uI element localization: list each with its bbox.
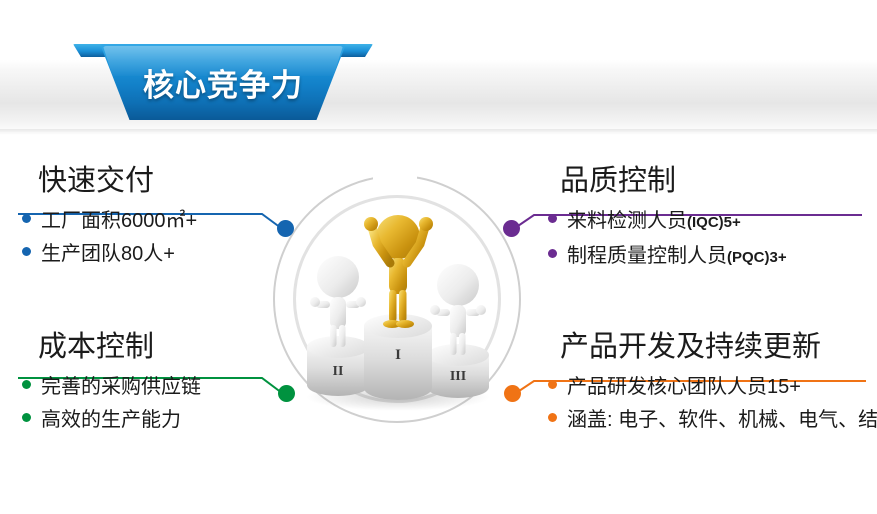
- list-item: 完善的采购供应链: [22, 375, 272, 399]
- bullet-dot-icon: [22, 214, 31, 223]
- quadrant-quality-heading: 品质控制: [560, 164, 864, 198]
- connector-dot-product: [504, 385, 521, 402]
- bullet-dot-icon: [548, 214, 557, 223]
- list-item-label: 高效的生产能力: [41, 408, 181, 432]
- quadrant-delivery-heading: 快速交付: [38, 164, 272, 198]
- list-item-label: 生产团队80人+: [41, 242, 175, 266]
- list-item-label: 来料检测人员(IQC)5+: [567, 209, 741, 235]
- list-item-label: 工厂面积6000㎡+: [41, 209, 197, 233]
- list-item: 高效的生产能力: [22, 408, 272, 432]
- quadrant-cost: 成本控制 完善的采购供应链 高效的生产能力: [22, 330, 272, 432]
- quadrant-product: 产品开发及持续更新 产品研发核心团队人员15+ 涵盖: 电子、软件、机械、电气、…: [524, 330, 869, 432]
- list-item: 产品研发核心团队人员15+: [548, 375, 869, 399]
- bullet-dot-icon: [22, 413, 31, 422]
- list-item: 来料检测人员(IQC)5+: [548, 209, 864, 235]
- list-item-label: 完善的采购供应链: [41, 375, 201, 399]
- connector-dot-cost: [278, 385, 295, 402]
- list-item-label: 产品研发核心团队人员15+: [567, 375, 801, 399]
- connector-dot-quality: [503, 220, 520, 237]
- quadrant-quality: 品质控制 来料检测人员(IQC)5+ 制程质量控制人员(PQC)3+: [524, 164, 864, 270]
- list-item: 工厂面积6000㎡+: [22, 209, 272, 233]
- quadrant-cost-heading: 成本控制: [38, 330, 272, 364]
- bullet-dot-icon: [548, 249, 557, 258]
- list-item: 生产团队80人+: [22, 242, 272, 266]
- list-item-label: 涵盖: 电子、软件、机械、电气、结构: [567, 408, 877, 432]
- quadrant-delivery: 快速交付 工厂面积6000㎡+ 生产团队80人+: [22, 164, 272, 266]
- slide-canvas: 核心竞争力: [0, 0, 877, 514]
- list-item-label: 制程质量控制人员(PQC)3+: [567, 244, 787, 270]
- bullet-dot-icon: [22, 247, 31, 256]
- bullet-dot-icon: [548, 413, 557, 422]
- list-item: 涵盖: 电子、软件、机械、电气、结构: [548, 408, 869, 432]
- list-item: 制程质量控制人员(PQC)3+: [548, 244, 864, 270]
- bullet-dot-icon: [548, 380, 557, 389]
- connector-dot-delivery: [277, 220, 294, 237]
- bullet-dot-icon: [22, 380, 31, 389]
- quadrant-product-heading: 产品开发及持续更新: [560, 330, 869, 364]
